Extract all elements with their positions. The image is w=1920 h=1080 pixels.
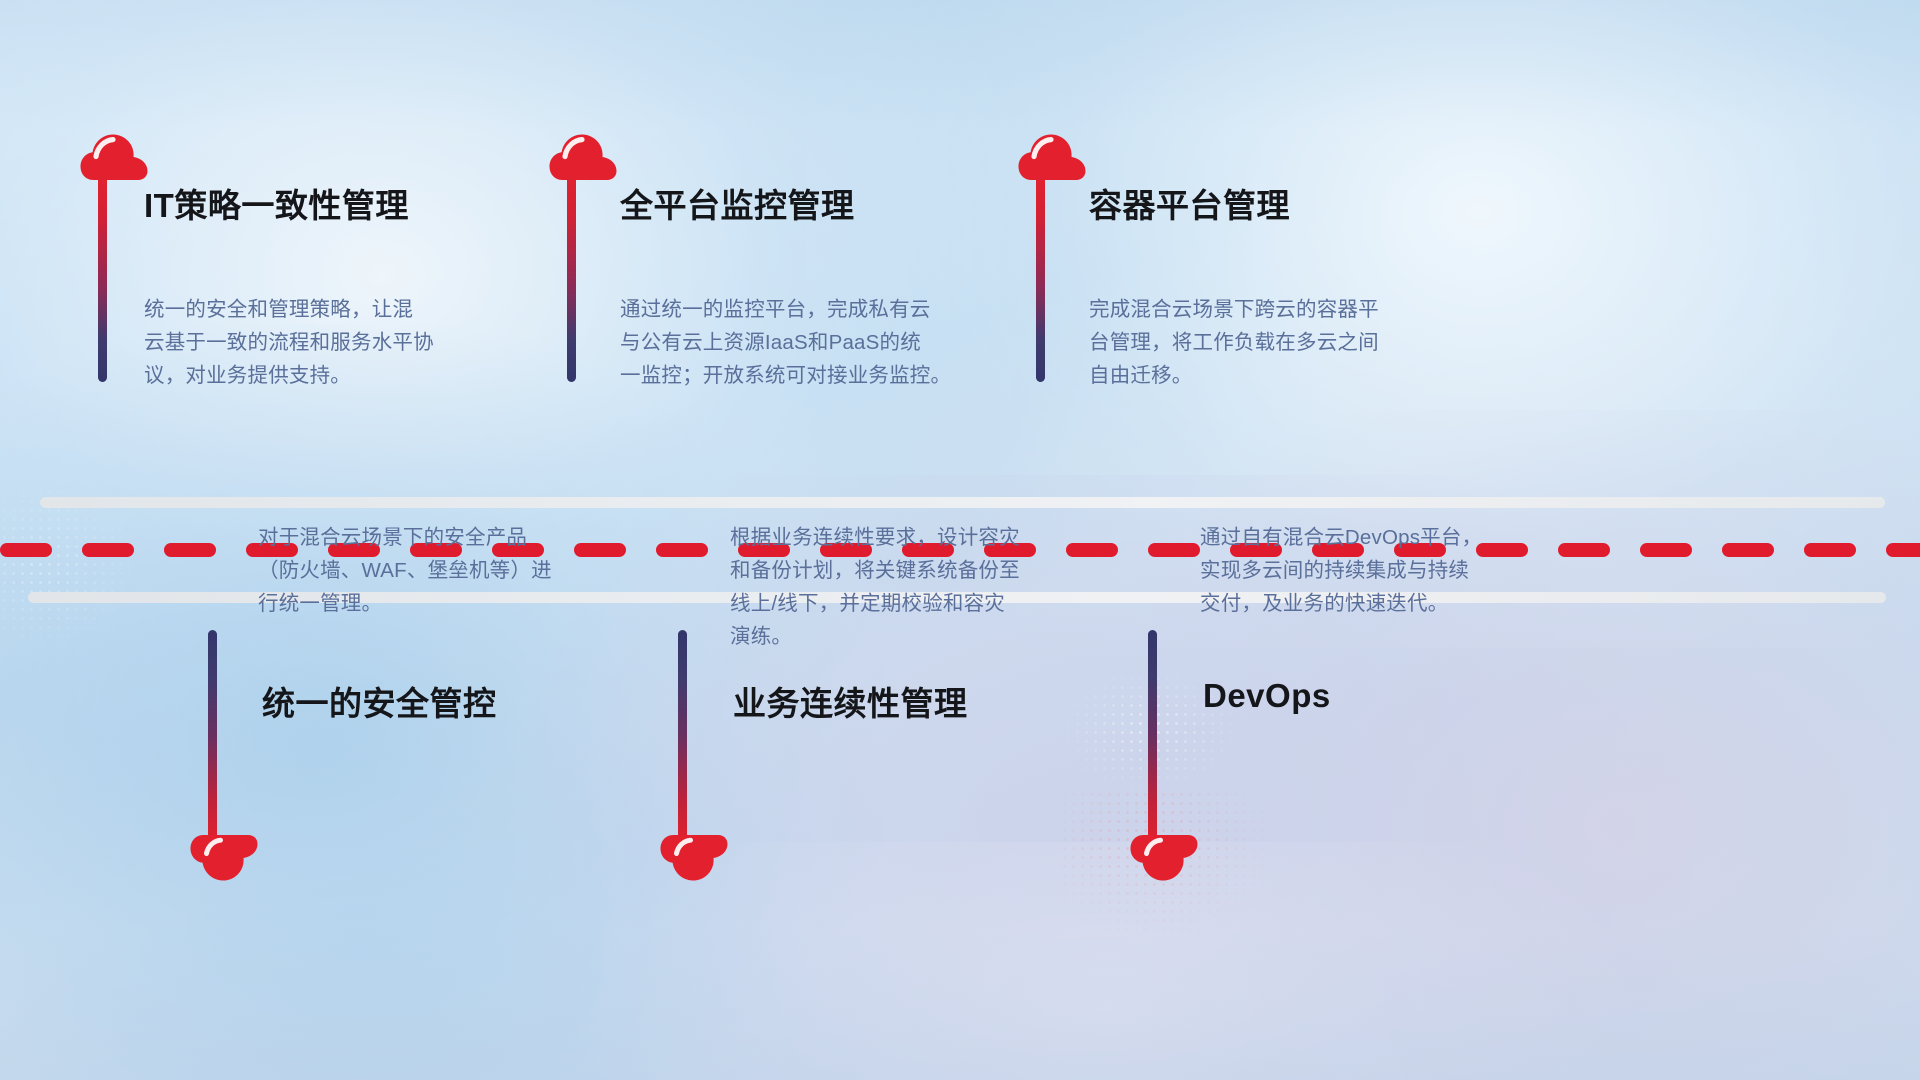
connector-stem xyxy=(1036,172,1045,382)
connector-stem xyxy=(98,172,107,382)
connector-stem xyxy=(208,630,217,845)
dash-segment xyxy=(1722,543,1774,557)
connector-stem xyxy=(678,630,687,845)
column-title: 业务连续性管理 xyxy=(733,677,968,725)
column-description: 通过自有混合云DevOps平台， 实现多云间的持续集成与持续 交付，及业务的快速… xyxy=(1200,521,1560,620)
dash-segment xyxy=(1804,543,1856,557)
column-description: 对于混合云场景下的安全产品 （防火墙、WAF、堡垒机等）进 行统一管理。 xyxy=(258,521,608,620)
dash-segment xyxy=(1886,543,1920,557)
connector-stem xyxy=(567,172,576,382)
dash-segment xyxy=(0,543,52,557)
dash-segment xyxy=(164,543,216,557)
cloud-icon xyxy=(1130,833,1198,885)
column-description: 根据业务连续性要求，设计容灾 和备份计划，将关键系统备份至 线上/线下，并定期校… xyxy=(730,521,1090,653)
column-description: 通过统一的监控平台，完成私有云 与公有云上资源IaaS和PaaS的统 一监控；开… xyxy=(620,293,1020,392)
dash-segment xyxy=(656,543,708,557)
column-title: IT策略一致性管理 xyxy=(144,179,409,227)
cloud-icon xyxy=(549,130,617,182)
column-title: 统一的安全管控 xyxy=(262,677,497,725)
cloud-icon xyxy=(80,130,148,182)
connector-stem xyxy=(1148,630,1157,845)
cloud-icon xyxy=(660,833,728,885)
column-title: DevOps xyxy=(1203,677,1331,715)
dash-segment xyxy=(1640,543,1692,557)
column-title: 全平台监控管理 xyxy=(620,179,855,227)
cloud-icon xyxy=(1018,130,1086,182)
dash-segment xyxy=(82,543,134,557)
dash-segment xyxy=(1558,543,1610,557)
divider-rail-top xyxy=(40,497,1885,508)
column-description: 统一的安全和管理策略，让混 云基于一致的流程和服务水平协 议，对业务提供支持。 xyxy=(144,293,510,392)
cloud-icon xyxy=(190,833,258,885)
column-title: 容器平台管理 xyxy=(1089,179,1290,227)
dash-segment xyxy=(1148,543,1200,557)
column-description: 完成混合云场景下跨云的容器平 台管理，将工作负载在多云之间 自由迁移。 xyxy=(1089,293,1459,392)
